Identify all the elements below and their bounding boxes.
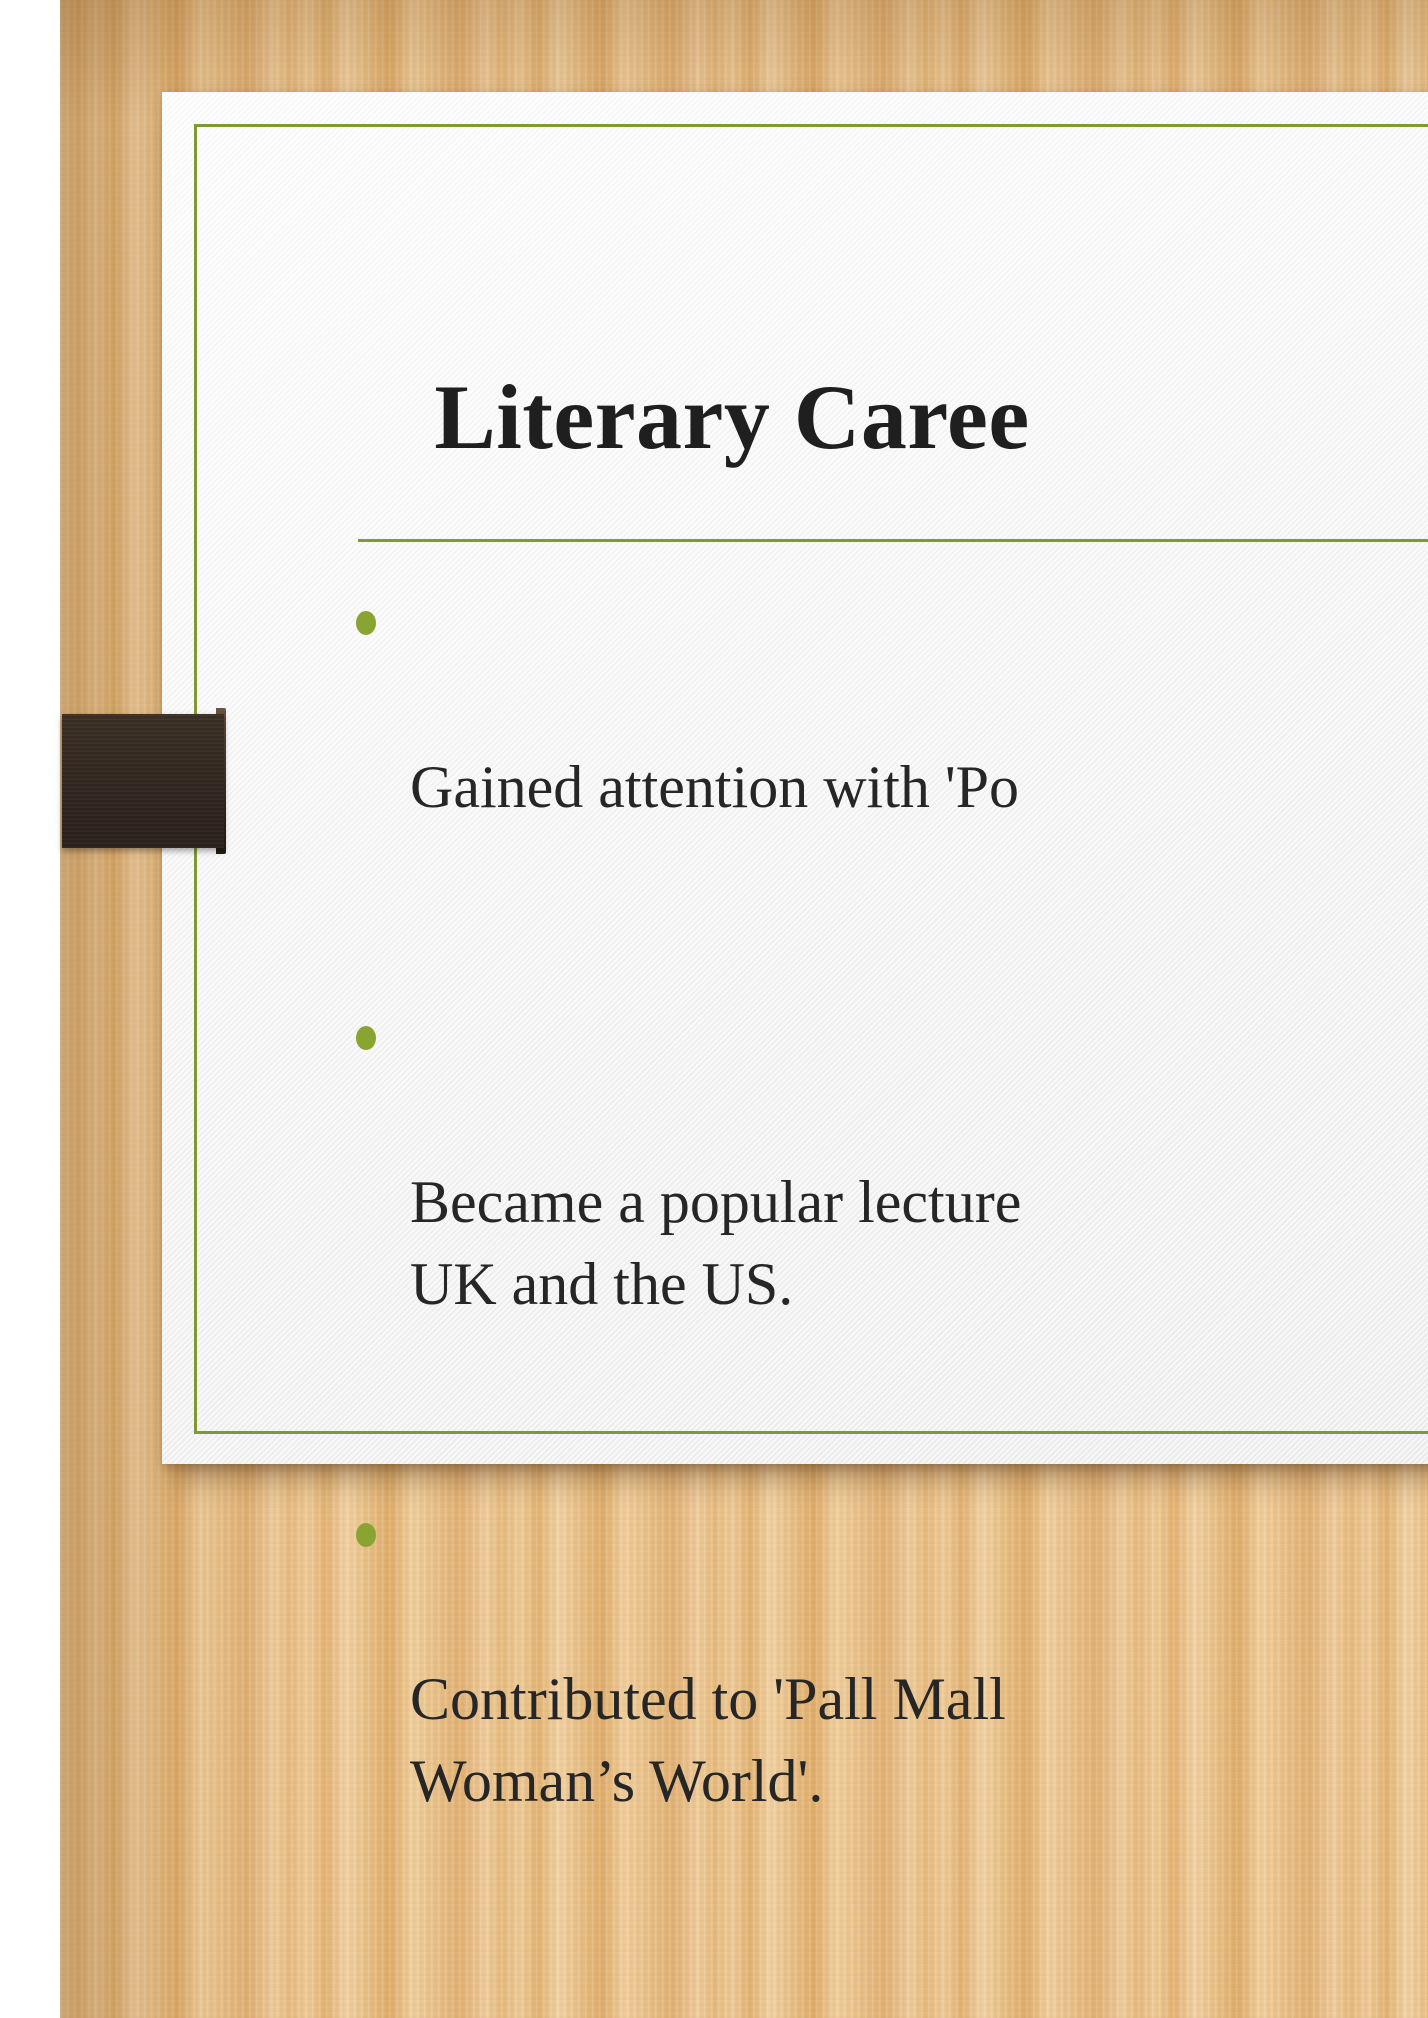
- slide-title: Literary Caree: [162, 369, 1302, 466]
- bullet-list: Gained attention with 'Po Became a popul…: [332, 582, 1428, 1905]
- slide-content-area: Literary Caree Gained attention with 'Po…: [162, 92, 1428, 1464]
- bullet-dot-icon: [356, 1523, 376, 1547]
- list-item: Gained attention with 'Po: [332, 582, 1428, 911]
- bullet-dot-icon: [356, 1026, 376, 1050]
- bullet-dot-icon: [356, 611, 376, 635]
- presentation-slide: Literary Caree Gained attention with 'Po…: [0, 0, 1428, 2018]
- bullet-item-text: Gained attention with 'Po: [410, 746, 1428, 828]
- bullet-item-text: Contributed to 'Pall Mall Woman’s World'…: [410, 1658, 1428, 1822]
- list-item: Contributed to 'Pall Mall Woman’s World'…: [332, 1494, 1428, 1905]
- bullet-item-text: Became a popular lecture UK and the US.: [410, 1161, 1428, 1325]
- list-item: Became a popular lecture UK and the US.: [332, 997, 1428, 1408]
- title-divider-rule: [358, 539, 1428, 542]
